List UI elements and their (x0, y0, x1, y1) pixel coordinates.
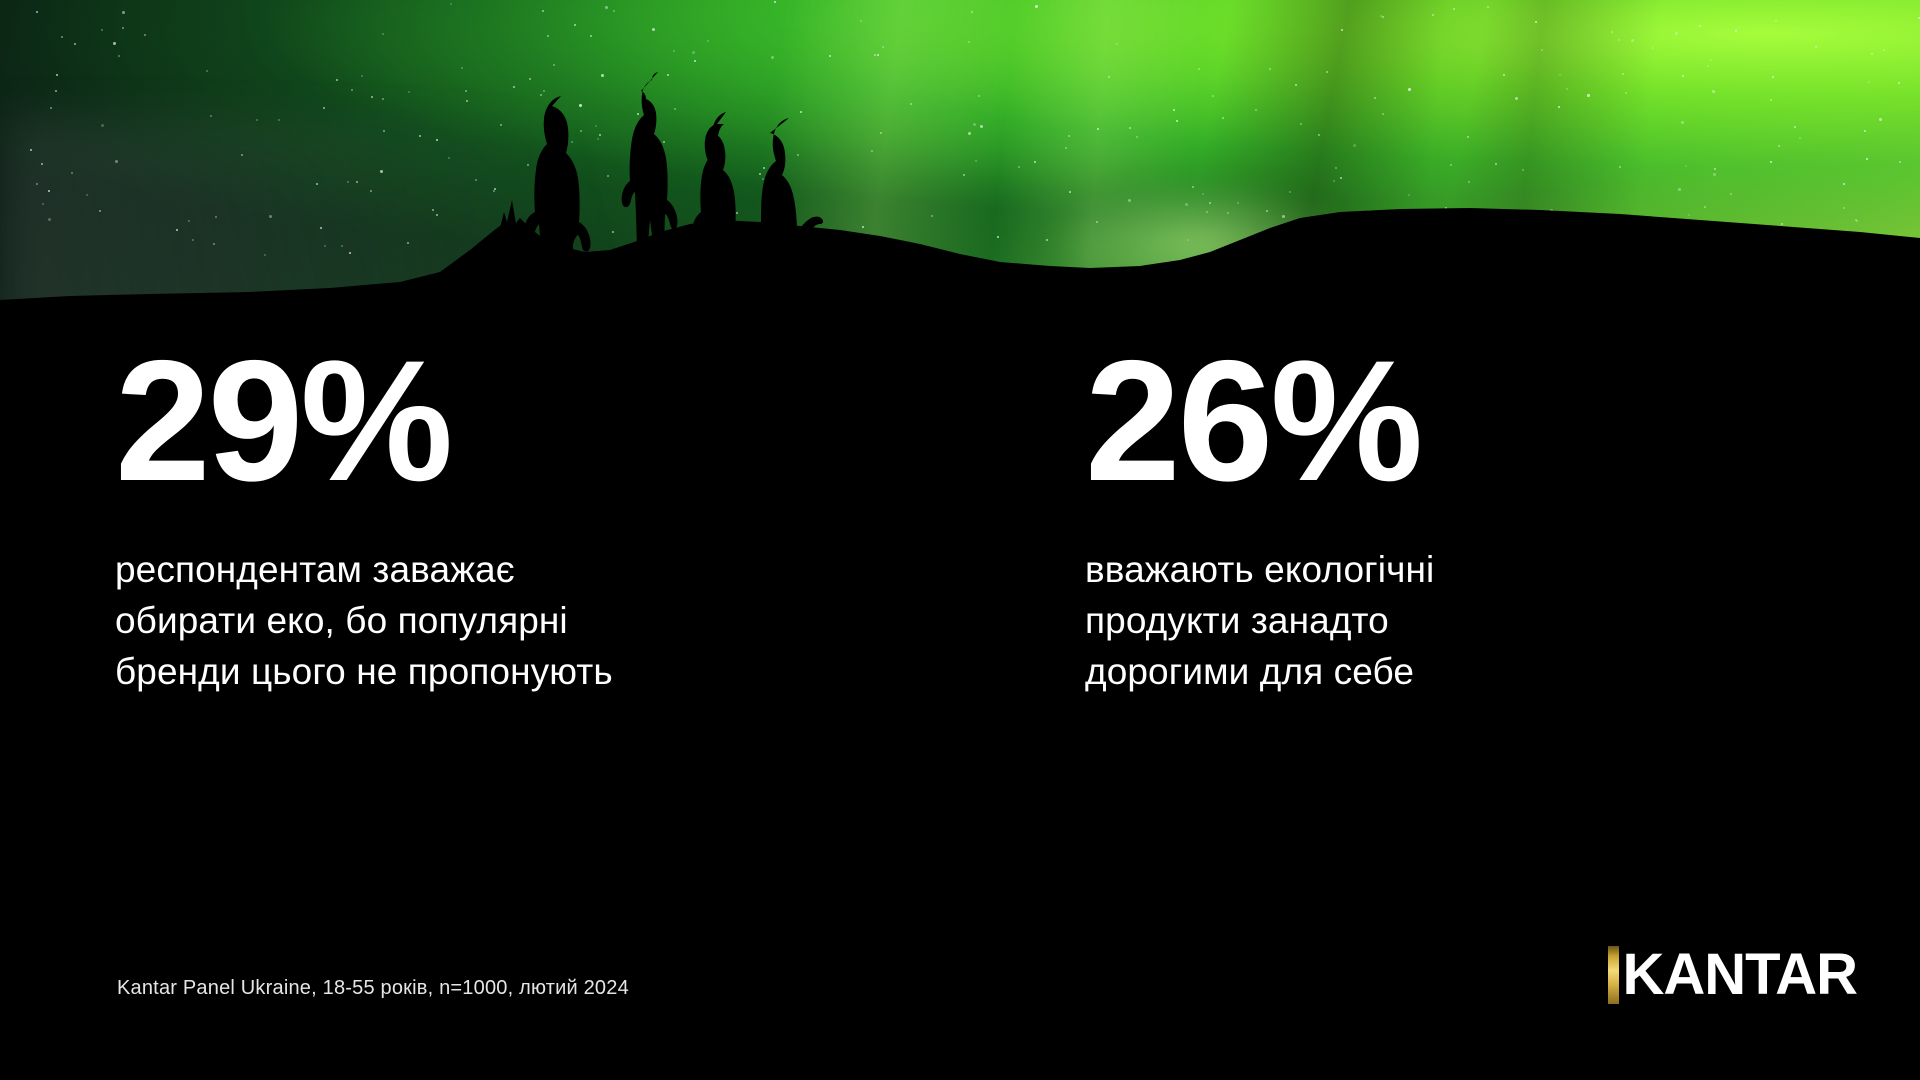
logo-accent-bar-icon (1608, 946, 1619, 1004)
stat-value-2: 26% (1085, 340, 1825, 503)
infographic-poster: 29% респондентам заважає обирати еко, бо… (0, 0, 1920, 1080)
ridge-and-hikers-silhouette (0, 0, 1920, 340)
logo-wordmark: KANTAR (1622, 946, 1857, 1004)
stat-caption-2: вважають екологічні продукти занадто дор… (1085, 545, 1825, 697)
stat-block-2: 26% вважають екологічні продукти занадто… (1085, 340, 1825, 697)
stat-caption-1: респондентам заважає обирати еко, бо поп… (115, 545, 855, 697)
hero-aurora-photo (0, 0, 1920, 340)
stat-value-1: 29% (115, 340, 855, 503)
source-note: Kantar Panel Ukraine, 18-55 років, n=100… (117, 977, 629, 1000)
stat-block-1: 29% респондентам заважає обирати еко, бо… (115, 340, 855, 697)
kantar-logo: KANTAR (1608, 946, 1857, 1004)
